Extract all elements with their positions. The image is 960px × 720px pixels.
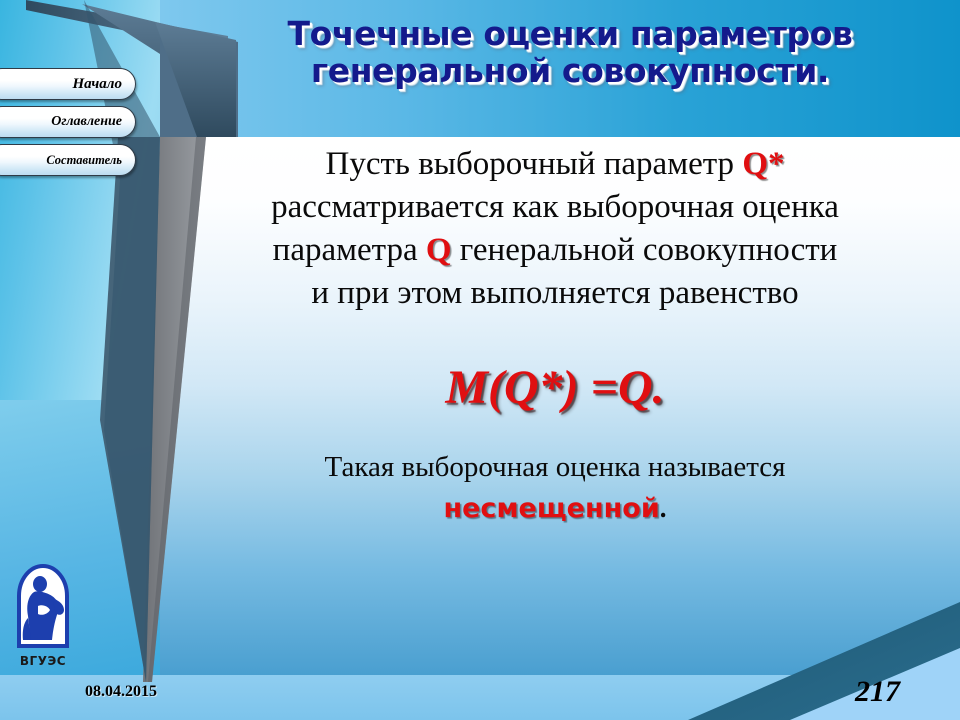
body-line-1: Пусть выборочный параметр Q*	[150, 143, 960, 186]
nav-button-author[interactable]: Составитель	[0, 144, 136, 176]
body-line-2: рассматривается как выборочная оценка	[150, 186, 960, 229]
body-line-3-suffix: генеральной совокупности	[452, 232, 838, 268]
closing-line-2: несмещенной.	[150, 487, 960, 530]
closing-line-1: Такая выборочная оценка называется	[150, 447, 960, 487]
body-line-3: параметра Q генеральной совокупности	[150, 229, 960, 272]
parameter-q-star: Q*	[742, 146, 784, 182]
body-line-1-text: Пусть выборочный параметр	[326, 146, 743, 182]
navigation-buttons: Начало Оглавление Составитель	[0, 68, 136, 176]
nav-button-home-label: Начало	[72, 76, 122, 93]
nav-button-contents-label: Оглавление	[51, 114, 122, 130]
logo-caption: ВГУЭС	[8, 654, 78, 668]
slide-date: 08.04.2015	[85, 683, 157, 701]
body-paragraph: Пусть выборочный параметр Q* рассматрива…	[150, 143, 960, 315]
title-line-1: Точечные оценки параметров	[200, 16, 940, 53]
slide-canvas: Точечные оценки параметров генеральной с…	[0, 0, 960, 720]
closing-statement: Такая выборочная оценка называется несме…	[150, 447, 960, 530]
formula-expression: M(Q*) =Q.	[150, 360, 960, 416]
closing-period: .	[660, 493, 667, 523]
slide-page-number: 217	[855, 675, 900, 709]
slide-title: Точечные оценки параметров генеральной с…	[200, 16, 940, 90]
body-line-3-prefix: параметра	[273, 232, 426, 268]
title-line-2: генеральной совокупности.	[200, 53, 940, 90]
nav-button-home[interactable]: Начало	[0, 68, 136, 100]
nav-button-contents[interactable]: Оглавление	[0, 106, 136, 138]
parameter-q: Q	[426, 232, 452, 268]
vgues-emblem-icon	[14, 560, 72, 652]
institution-logo: ВГУЭС	[8, 560, 78, 668]
nav-button-author-label: Составитель	[46, 153, 122, 168]
closing-term: несмещенной	[443, 493, 659, 524]
body-line-4: и при этом выполняется равенство	[150, 272, 960, 315]
